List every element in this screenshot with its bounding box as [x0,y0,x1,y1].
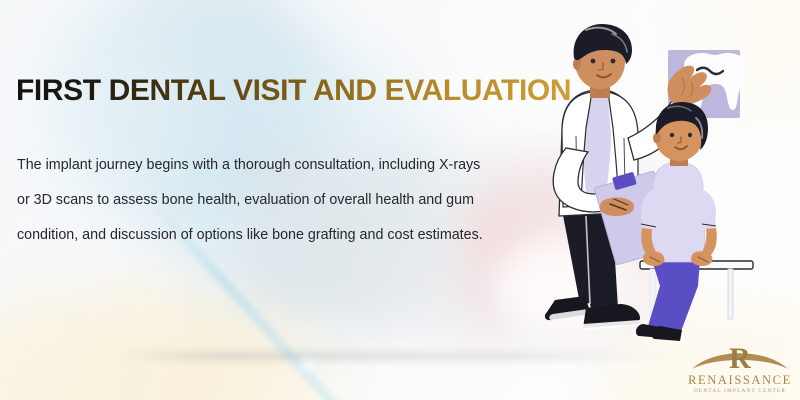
dentist-child-illustration [500,18,800,378]
logo-tagline: DENTAL IMPLANT CENTER [688,388,792,394]
logo-name: RENAISSANCE [688,374,792,387]
page-title: FIRST DENTAL VISIT AND EVALUATION [16,74,571,108]
dental-banner: FIRST DENTAL VISIT AND EVALUATION The im… [0,0,800,400]
logo-monogram-icon: R [688,340,792,374]
body-paragraph: The implant journey begins with a thorou… [17,148,487,253]
svg-text:R: R [729,342,751,374]
renaissance-logo[interactable]: R RENAISSANCE DENTAL IMPLANT CENTER [688,340,792,394]
